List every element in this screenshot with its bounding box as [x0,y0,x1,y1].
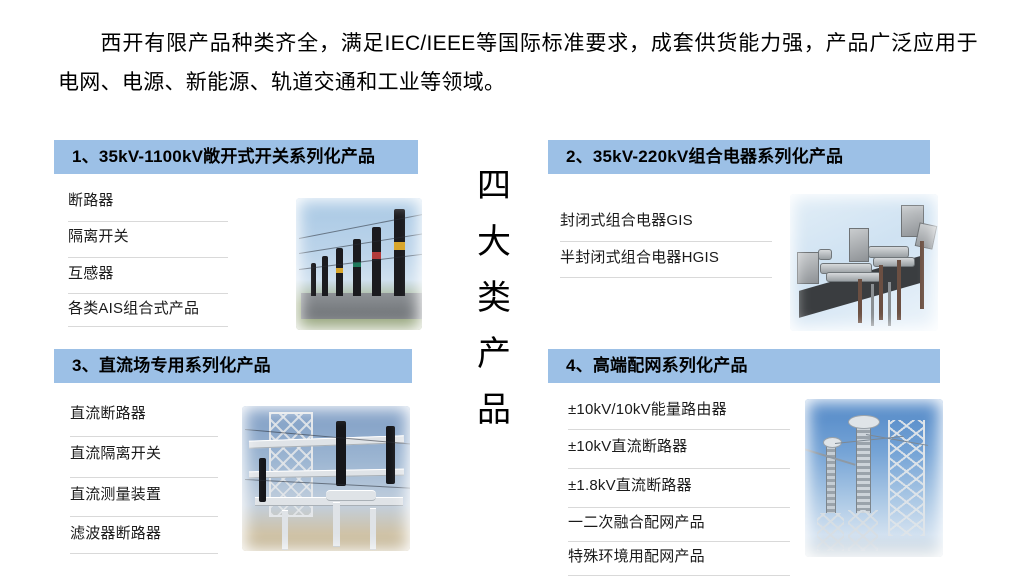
list-item[interactable]: 直流断路器 [70,398,218,437]
category-2-list: 封闭式组合电器GIS 半封闭式组合电器HGIS [560,206,772,278]
photo-insulator-band [394,242,405,251]
center-title-char-3: 类 [462,270,526,326]
center-vertical-title: 四 大 类 产 品 [462,158,526,438]
category-1-header[interactable]: 1、35kV-1100kV敞开式开关系列化产品 [54,140,418,174]
category-3-header[interactable]: 3、直流场专用系列化产品 [54,349,412,383]
category-3-list: 直流断路器 直流隔离开关 直流测量装置 滤波器断路器 [70,398,218,554]
cad-support-leg [858,279,862,323]
list-item[interactable]: 半封闭式组合电器HGIS [560,242,772,278]
list-item[interactable]: 各类AIS组合式产品 [68,294,228,327]
photo-support-post [370,508,376,551]
photo-support-structure [817,513,843,551]
ais-switchgear-photo [296,198,422,330]
list-item[interactable]: 直流隔离开关 [70,437,218,478]
photo-insulator [336,248,343,296]
category-block-4: 4、高端配网系列化产品 [548,349,940,383]
cad-support-leg [871,284,874,325]
list-item[interactable]: 断路器 [68,186,228,222]
intro-paragraph: 西开有限产品种类齐全，满足IEC/IEEE等国际标准要求，成套供货能力强，产品广… [58,24,978,102]
list-item[interactable]: ±1.8kV直流断路器 [568,469,790,508]
photo-support-post [333,502,340,548]
photo-equipment-base [301,293,422,319]
list-item[interactable]: 特殊环境用配网产品 [568,542,790,576]
photo-insulator [322,256,328,296]
cad-support-leg [920,241,924,310]
center-title-char-2: 大 [462,214,526,270]
photo-insulator [394,209,405,296]
transmission-tower-photo [805,399,943,557]
center-title-char-4: 产 [462,326,526,382]
list-item[interactable]: ±10kV/10kV能量路由器 [568,396,790,430]
category-2-header[interactable]: 2、35kV-220kV组合电器系列化产品 [548,140,930,174]
cad-gas-tube [868,246,908,258]
dc-switchyard-photo [242,406,410,551]
cad-cabinet [849,228,869,262]
category-block-3: 3、直流场专用系列化产品 [54,349,412,383]
photo-insulator [336,421,346,486]
cad-gas-tube [826,272,881,282]
center-title-char-5: 品 [462,382,526,438]
gis-cad-render [790,194,938,331]
photo-insulator-column [826,443,836,513]
cad-gas-tube [818,249,832,261]
photo-support-structure [848,510,878,551]
list-item[interactable]: 直流测量装置 [70,478,218,517]
category-block-2: 2、35kV-220kV组合电器系列化产品 [548,140,930,174]
list-item[interactable]: 滤波器断路器 [70,517,218,554]
list-item[interactable]: 隔离开关 [68,222,228,258]
category-4-list: ±10kV/10kV能量路由器 ±10kV直流断路器 ±1.8kV直流断路器 一… [568,396,790,576]
cad-support-leg [888,282,891,326]
list-item[interactable]: 一二次融合配网产品 [568,508,790,542]
photo-support-post [282,510,288,550]
photo-insulator [386,426,395,484]
photo-background [242,406,410,551]
photo-equipment [326,490,376,501]
list-item[interactable]: 互感器 [68,258,228,294]
photo-insulator [353,239,361,296]
photo-insulator-band [372,252,381,259]
photo-insulator-band [336,268,343,273]
category-1-list: 断路器 隔离开关 互感器 各类AIS组合式产品 [68,186,228,327]
category-4-header[interactable]: 4、高端配网系列化产品 [548,349,940,383]
cad-cabinet [797,252,818,284]
photo-insulator-column [856,424,871,512]
cad-support-leg [879,265,883,320]
photo-insulator [372,227,381,296]
list-item[interactable]: 封闭式组合电器GIS [560,206,772,242]
cad-support-leg [897,260,901,320]
intro-text: 西开有限产品种类齐全，满足IEC/IEEE等国际标准要求，成套供货能力强，产品广… [58,32,978,94]
category-block-1: 1、35kV-1100kV敞开式开关系列化产品 [54,140,418,174]
center-title-char-1: 四 [462,158,526,214]
list-item[interactable]: ±10kV直流断路器 [568,430,790,469]
photo-corona-ring [848,415,880,429]
